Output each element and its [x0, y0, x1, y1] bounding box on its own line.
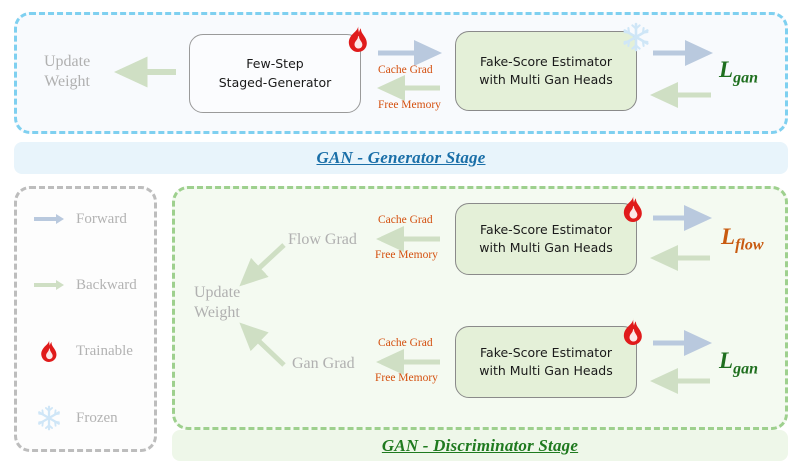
few-step-staged-generator-box[interactable]: Few-Step Staged-Generator	[189, 34, 361, 113]
discriminator-stage-banner: GAN - Discriminator Stage	[172, 430, 788, 461]
flow-grad-label: Flow Grad	[288, 230, 357, 250]
generator-free-memory-label: Free Memory	[378, 99, 441, 113]
fse-gen-line1: Fake-Score Estimator	[480, 53, 612, 71]
loss-subscript: gan	[733, 361, 758, 378]
loss-subscript: gan	[733, 70, 758, 87]
fse-gan-line1: Fake-Score Estimator	[480, 344, 612, 362]
loss-symbol: L	[721, 224, 735, 249]
gan-cache-grad-label: Cache Grad	[378, 337, 433, 351]
fse-flow-line1: Fake-Score Estimator	[480, 221, 612, 239]
backward-arrow-icon	[32, 272, 66, 298]
discriminator-update-weight-label: Update Weight	[194, 283, 240, 323]
flow-free-memory-label: Free Memory	[375, 249, 438, 263]
legend-label-forward: Forward	[76, 211, 127, 228]
gan-grad-label: Gan Grad	[292, 354, 355, 374]
loss-symbol: L	[719, 348, 733, 373]
legend-label-frozen: Frozen	[76, 410, 118, 427]
loss-gan-generator-stage: Lgan	[719, 57, 758, 88]
loss-gan-discriminator-stage: Lgan	[719, 348, 758, 379]
legend-item-forward: Forward	[32, 206, 127, 232]
generator-update-weight-line1: Update	[44, 52, 90, 72]
loss-subscript: flow	[735, 237, 763, 254]
fse-gen-line2: with Multi Gan Heads	[479, 71, 612, 89]
generator-update-weight-line2: Weight	[44, 72, 90, 92]
legend-item-backward: Backward	[32, 272, 137, 298]
fake-score-estimator-box-flow-branch[interactable]: Fake-Score Estimator with Multi Gan Head…	[455, 203, 637, 275]
loss-symbol: L	[719, 57, 733, 82]
snowflake-icon	[32, 405, 66, 431]
gan-free-memory-label: Free Memory	[375, 372, 438, 386]
legend-label-trainable: Trainable	[76, 343, 133, 360]
generator-stage-banner-label: GAN - Generator Stage	[316, 148, 485, 168]
generator-update-weight-label: Update Weight	[44, 52, 90, 92]
flame-icon	[32, 338, 66, 364]
discriminator-update-weight-line1: Update	[194, 283, 240, 303]
fake-score-estimator-box-generator-stage[interactable]: Fake-Score Estimator with Multi Gan Head…	[455, 31, 637, 111]
discriminator-stage-banner-label: GAN - Discriminator Stage	[382, 436, 578, 456]
legend-item-trainable: Trainable	[32, 338, 133, 364]
fse-gan-line2: with Multi Gan Heads	[479, 362, 612, 380]
legend-label-backward: Backward	[76, 277, 137, 294]
fake-score-estimator-box-gan-branch[interactable]: Fake-Score Estimator with Multi Gan Head…	[455, 326, 637, 398]
forward-arrow-icon	[32, 206, 66, 232]
fse-flow-line2: with Multi Gan Heads	[479, 239, 612, 257]
loss-flow: Lflow	[721, 224, 764, 255]
flow-cache-grad-label: Cache Grad	[378, 214, 433, 228]
generator-stage-banner: GAN - Generator Stage	[14, 142, 788, 174]
generator-box-line1: Few-Step	[246, 55, 303, 73]
generator-cache-grad-label: Cache Grad	[378, 64, 433, 78]
diagram-canvas: GAN - Generator Stage GAN - Discriminato…	[0, 0, 801, 465]
discriminator-update-weight-line2: Weight	[194, 303, 240, 323]
legend-item-frozen: Frozen	[32, 405, 118, 431]
generator-box-line2: Staged-Generator	[219, 74, 332, 92]
